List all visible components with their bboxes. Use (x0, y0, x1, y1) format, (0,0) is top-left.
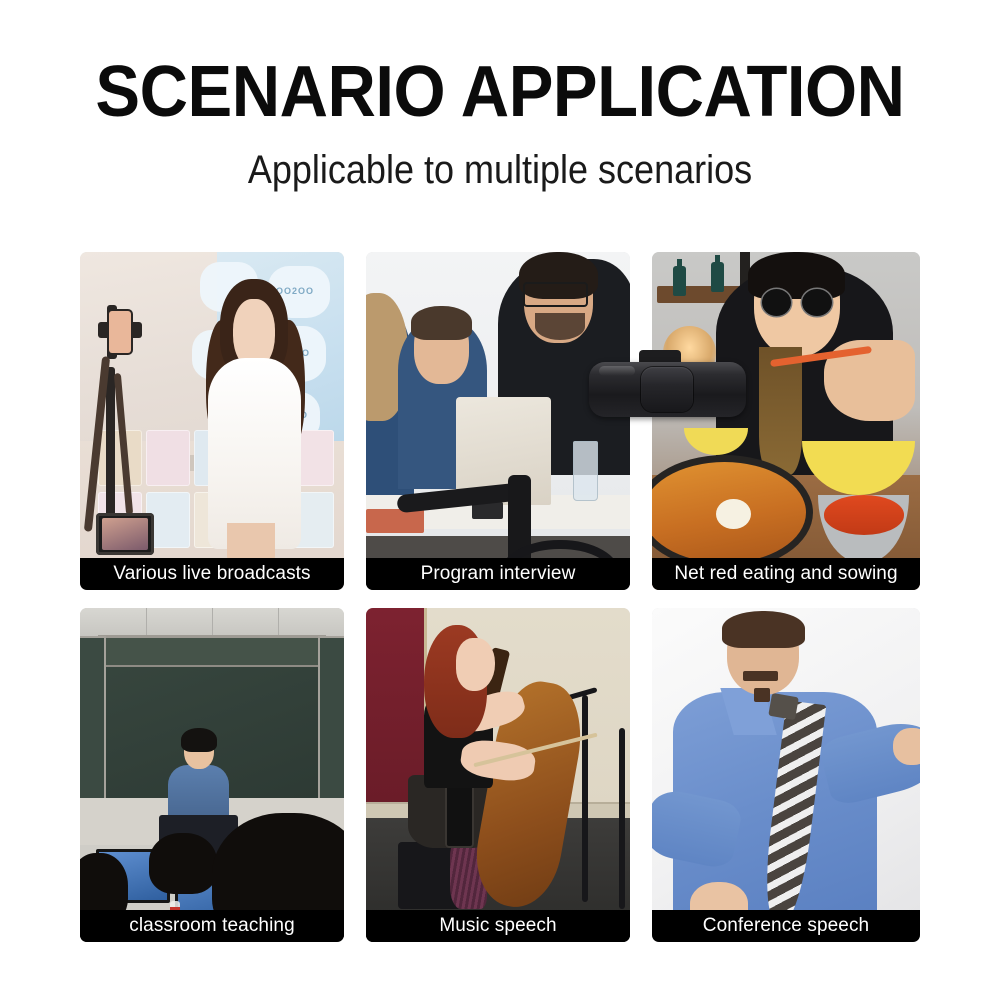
wireless-microphone-device (589, 362, 746, 417)
card-caption: Music speech (366, 910, 630, 942)
mukbang-photo (652, 252, 920, 590)
card-caption: classroom teaching (80, 910, 344, 942)
program-interview-photo (366, 252, 630, 590)
camera-rig (85, 299, 164, 583)
page-header: SCENARIO APPLICATION Applicable to multi… (0, 0, 1000, 190)
conference-speech-photo (652, 608, 920, 942)
live-broadcast-photo: OO2OO OO2OO OO2OO (80, 252, 344, 590)
scenario-card-music-speech[interactable]: Music speech (366, 608, 630, 942)
scenario-grid: OO2OO OO2OO OO2OO (80, 252, 920, 942)
page-subtitle: Applicable to multiple scenarios (50, 150, 950, 190)
card-caption: Various live broadcasts (80, 558, 344, 590)
scenario-card-classroom-teaching[interactable]: classroom teaching (80, 608, 344, 942)
microphone-center-button (641, 367, 693, 412)
card-caption: Net red eating and sowing (652, 558, 920, 590)
scenario-card-conference-speech[interactable]: Conference speech (652, 608, 920, 942)
microphone-body (589, 362, 746, 417)
scenario-card-mukbang[interactable]: Net red eating and sowing (652, 252, 920, 590)
scenario-card-live-broadcast[interactable]: OO2OO OO2OO OO2OO (80, 252, 344, 590)
teacher-figure (167, 732, 230, 826)
card-caption: Program interview (366, 558, 630, 590)
microphone-highlight (599, 366, 635, 376)
card-caption: Conference speech (652, 910, 920, 942)
page-title: SCENARIO APPLICATION (35, 56, 965, 128)
presenter-figure (201, 279, 307, 570)
classroom-teaching-photo (80, 608, 344, 942)
scenario-card-program-interview[interactable]: Program interview (366, 252, 630, 590)
music-speech-photo (366, 608, 630, 942)
